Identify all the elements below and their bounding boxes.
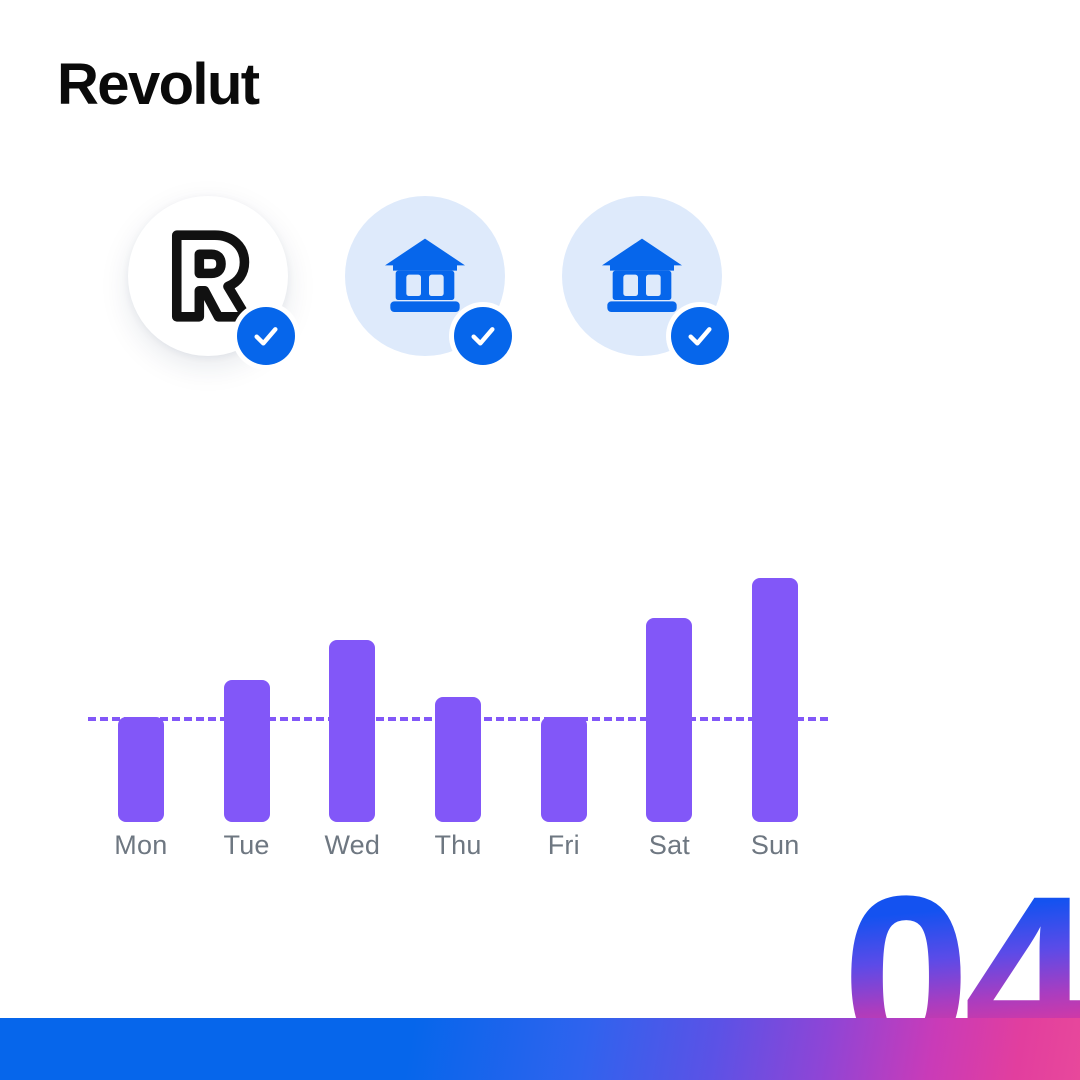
chart-plot-area (88, 548, 828, 822)
footer-gradient-bar (0, 1018, 1080, 1080)
verified-check-badge (232, 302, 300, 370)
check-circle (671, 307, 729, 365)
badge-linked-bank-1[interactable] (345, 196, 505, 356)
verified-accounts-row (128, 196, 722, 356)
x-axis-label: Mon (88, 830, 194, 861)
x-axis-label: Thu (405, 830, 511, 861)
check-icon (467, 320, 499, 352)
revolut-r-icon (164, 230, 252, 322)
badge-revolut-account[interactable] (128, 196, 288, 356)
verified-check-badge (449, 302, 517, 370)
bar-slot (511, 548, 617, 822)
x-axis-label: Fri (511, 830, 617, 861)
chart-bar[interactable] (541, 717, 587, 822)
chart-bar[interactable] (435, 697, 481, 822)
bank-icon (599, 236, 685, 316)
check-icon (250, 320, 282, 352)
bar-slot (405, 548, 511, 822)
chart-bar[interactable] (118, 717, 164, 822)
check-icon (684, 320, 716, 352)
chart-bar[interactable] (646, 618, 692, 822)
x-axis-label: Sat (617, 830, 723, 861)
bar-slot (617, 548, 723, 822)
chart-bar[interactable] (224, 680, 270, 822)
chart-bar[interactable] (329, 640, 375, 822)
badge-linked-bank-2[interactable] (562, 196, 722, 356)
check-circle (454, 307, 512, 365)
verified-check-badge (666, 302, 734, 370)
x-axis-label: Sun (722, 830, 828, 861)
brand-wordmark: Revolut (57, 56, 259, 114)
bank-icon (382, 236, 468, 316)
poster-canvas: Revolut (0, 0, 1080, 1080)
x-axis-label: Wed (299, 830, 405, 861)
bar-slot (88, 548, 194, 822)
bar-slot (722, 548, 828, 822)
bar-slot (194, 548, 300, 822)
weekly-spending-chart: MonTueWedThuFriSatSun (88, 548, 828, 868)
check-circle (237, 307, 295, 365)
chart-bar[interactable] (752, 578, 798, 822)
chart-x-axis-labels: MonTueWedThuFriSatSun (88, 830, 828, 861)
x-axis-label: Tue (194, 830, 300, 861)
bar-slot (299, 548, 405, 822)
chart-bars (88, 548, 828, 822)
